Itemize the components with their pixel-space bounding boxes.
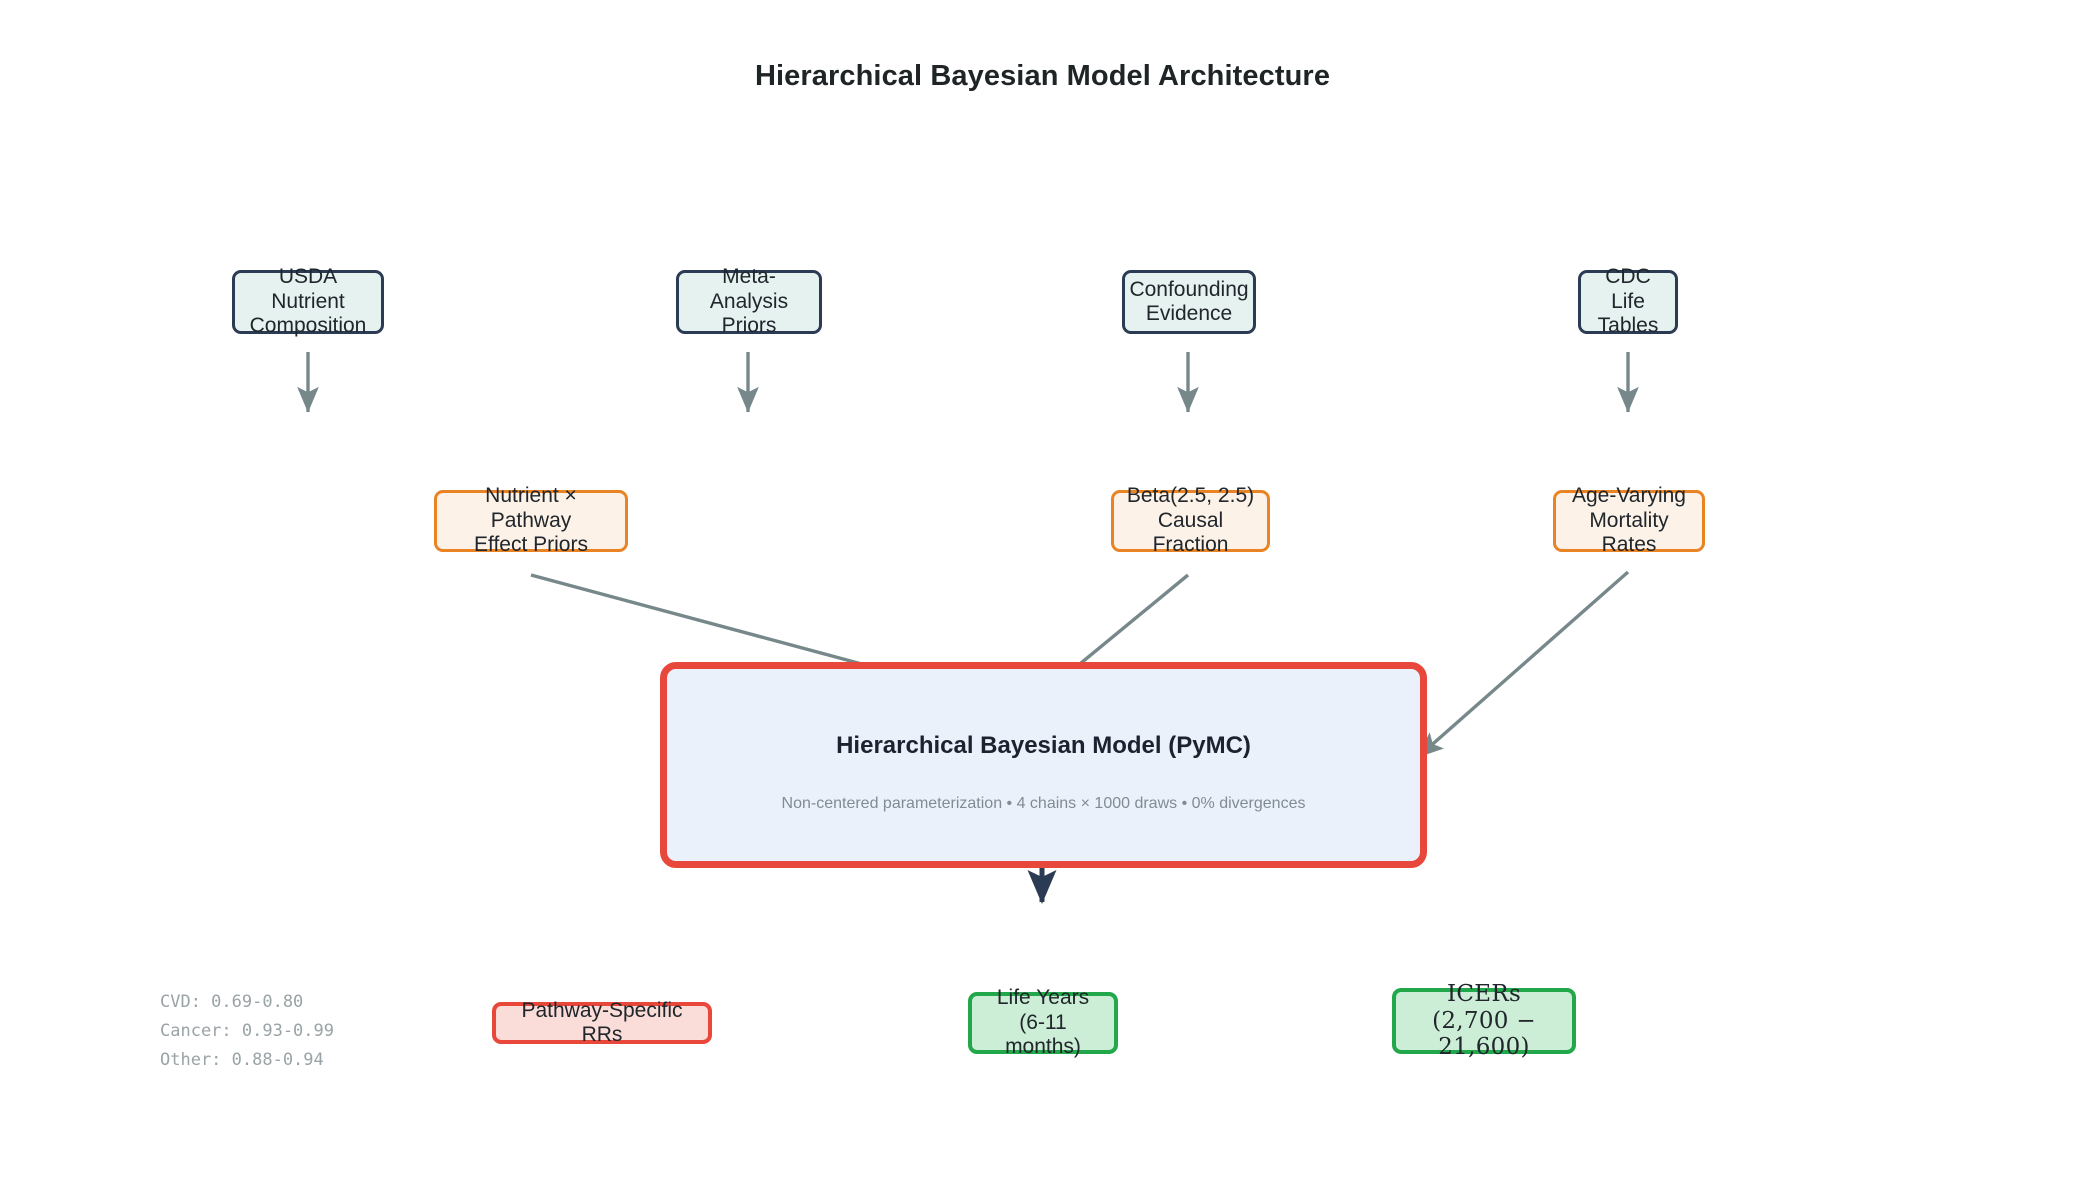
- node-prior-nutrient-pathway[interactable]: Nutrient × Pathway Effect Priors: [434, 490, 628, 552]
- node-prior-beta-causal-fraction[interactable]: Beta(2.5, 2.5) Causal Fraction: [1111, 490, 1270, 552]
- node-label: Confounding Evidence: [1129, 278, 1248, 327]
- node-label: Pathway-Specific RRs: [506, 999, 698, 1048]
- node-data-source-usda[interactable]: USDA Nutrient Composition: [232, 270, 384, 334]
- node-label: Beta(2.5, 2.5) Causal Fraction: [1124, 484, 1257, 557]
- node-label-line2: (2,700 − 21,600): [1406, 1008, 1562, 1061]
- node-output-life-years[interactable]: Life Years (6-11 months): [968, 992, 1118, 1054]
- node-label: Nutrient × Pathway Effect Priors: [447, 484, 615, 557]
- model-box-title: Hierarchical Bayesian Model (PyMC): [836, 732, 1251, 760]
- node-label-line1: ICERs: [1447, 981, 1521, 1008]
- node-prior-age-varying-mortality[interactable]: Age-Varying Mortality Rates: [1553, 490, 1705, 552]
- page-title: Hierarchical Bayesian Model Architecture: [0, 60, 2085, 93]
- node-output-pathway-specific-rrs[interactable]: Pathway-Specific RRs: [492, 1002, 712, 1044]
- node-data-source-cdc[interactable]: CDC Life Tables: [1578, 270, 1678, 334]
- stats-note: CVD: 0.69-0.80 Cancer: 0.93-0.99 Other: …: [160, 988, 334, 1076]
- node-data-source-confounding[interactable]: Confounding Evidence: [1122, 270, 1256, 334]
- diagram-canvas: Hierarchical Bayesian Model Architecture: [0, 0, 2085, 1185]
- node-label: Age-Varying Mortality Rates: [1566, 484, 1692, 557]
- node-label: CDC Life Tables: [1591, 265, 1665, 338]
- node-output-icers[interactable]: ICERs (2,700 − 21,600): [1392, 988, 1576, 1054]
- node-label: USDA Nutrient Composition: [245, 265, 371, 338]
- node-label: Life Years (6-11 months): [982, 986, 1104, 1059]
- arrow-mortality-to-model: [1418, 572, 1628, 757]
- node-data-source-meta-analysis[interactable]: Meta-Analysis Priors: [676, 270, 822, 334]
- model-box-subtitle: Non-centered parameterization • 4 chains…: [667, 795, 1420, 813]
- node-label: Meta-Analysis Priors: [689, 265, 809, 338]
- model-box-hierarchical-bayesian[interactable]: Hierarchical Bayesian Model (PyMC) Non-c…: [660, 662, 1427, 868]
